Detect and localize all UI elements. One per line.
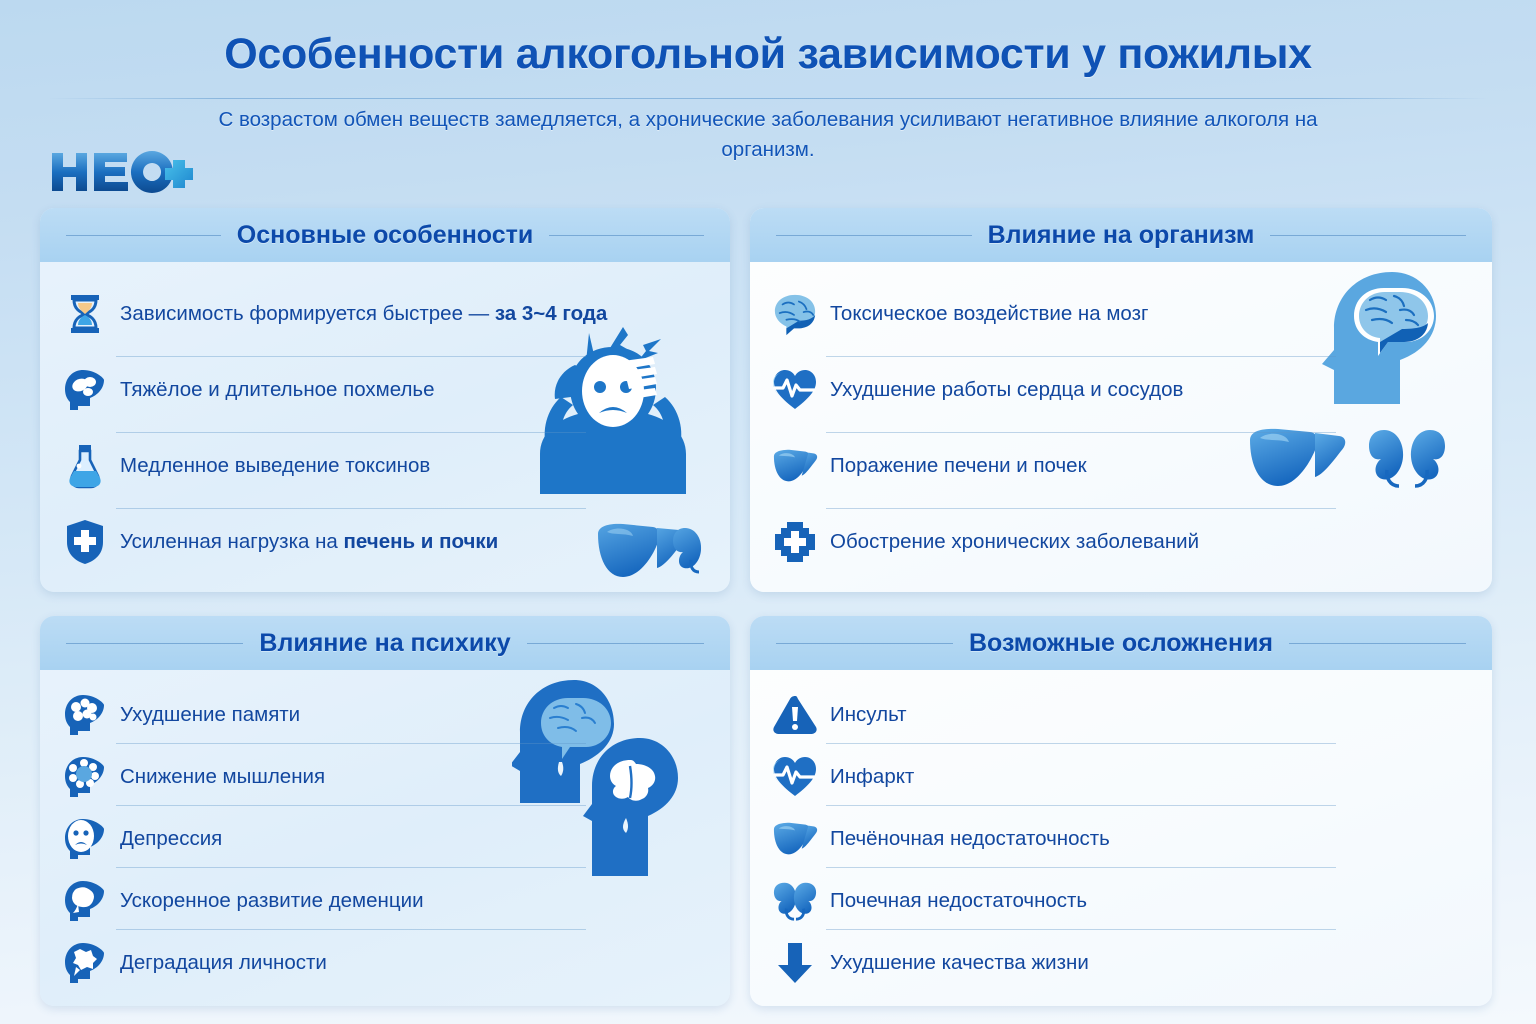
list-item-label: Медленное выведение токсинов — [120, 454, 430, 479]
liver-icon — [772, 816, 818, 862]
card-body: Инсульт Инфаркт — [750, 670, 1492, 1006]
flask-icon — [62, 443, 108, 489]
card-header: Влияние на психику — [40, 616, 730, 670]
warning-triangle-icon — [772, 692, 818, 738]
kidneys-icon — [772, 878, 818, 924]
list-item[interactable]: Почечная недостаточность — [772, 874, 1470, 928]
card-title: Влияние на организм — [988, 221, 1255, 250]
header-rule-left — [66, 643, 243, 644]
list-item[interactable]: Инфаркт — [772, 750, 1470, 804]
card-title: Влияние на психику — [259, 629, 510, 658]
card-vozmozhnye-oslozhneniya: Возможные осложнения Инсульт — [750, 616, 1492, 1006]
list-item-label: Инфаркт — [830, 765, 914, 790]
card-title: Основные особенности — [237, 221, 534, 250]
card-header: Влияние на организм — [750, 208, 1492, 262]
list-item-label: Депрессия — [120, 827, 222, 852]
list-item-label: Токсическое воздействие на мозг — [830, 302, 1148, 327]
head-sad-face-icon — [62, 816, 108, 862]
list-item-label: Инсульт — [830, 703, 907, 728]
list-item-label: Ухудшение памяти — [120, 703, 300, 728]
page-title: Особенности алкогольной зависимости у по… — [0, 0, 1536, 79]
medical-cross-icon — [772, 519, 818, 565]
card-header: Основные особенности — [40, 208, 730, 262]
list-item-label: Усиленная нагрузка на печень и почки — [120, 530, 498, 555]
list-item[interactable]: Обострение хронических заболеваний — [772, 515, 1470, 569]
heart-pulse-icon — [772, 367, 818, 413]
card-vliyanie-na-psihiku: Влияние на психику — [40, 616, 730, 1006]
head-gear-icon — [62, 754, 108, 800]
card-body: Ухудшение памяти Снижение — [40, 670, 730, 1006]
list-item-label: Деградация личности — [120, 951, 327, 976]
list-item[interactable]: Тяжёлое и длительное похмелье — [62, 363, 708, 417]
page-subtitle: С возрастом обмен веществ замедляется, а… — [188, 105, 1348, 164]
list-item[interactable]: Инсульт — [772, 688, 1470, 742]
list-item-label: Зависимость формируется быстрее — за 3~4… — [120, 302, 607, 327]
head-memory-icon — [62, 692, 108, 738]
head-pills-icon — [62, 367, 108, 413]
head-broken-icon — [62, 940, 108, 986]
list-item-label: Печёночная недостаточность — [830, 827, 1110, 852]
card-body: Токсическое воздействие на мозг Ухудшени… — [750, 262, 1492, 592]
list-item[interactable]: Ускоренное развитие деменции — [62, 874, 708, 928]
list-item[interactable]: Депрессия — [62, 812, 708, 866]
list-item[interactable]: Ухудшение работы сердца и сосудов — [772, 363, 1470, 417]
list-item[interactable]: Снижение мышления — [62, 750, 708, 804]
list-item-label: Ускоренное развитие деменции — [120, 889, 424, 914]
brand-logo — [48, 148, 196, 196]
list-item-label: Почечная недостаточность — [830, 889, 1087, 914]
header-rule-right — [1270, 235, 1466, 236]
list-item-label: Поражение печени и почек — [830, 454, 1087, 479]
card-vliyanie-na-organizm: Влияние на организм — [750, 208, 1492, 592]
list-item-label: Ухудшение качества жизни — [830, 951, 1089, 976]
card-body: Зависимость формируется быстрее — за 3~4… — [40, 262, 730, 592]
header-rule-left — [66, 235, 221, 236]
brain-icon — [772, 291, 818, 337]
list-item[interactable]: Ухудшение качества жизни — [772, 936, 1470, 990]
shield-cross-icon — [62, 519, 108, 565]
list-item[interactable]: Поражение печени и почек — [772, 439, 1470, 493]
neo-plus-logo-icon — [48, 149, 196, 195]
card-title: Возможные осложнения — [969, 629, 1273, 658]
title-divider — [48, 98, 1488, 99]
card-header: Возможные осложнения — [750, 616, 1492, 670]
header-rule-left — [776, 643, 953, 644]
head-fading-icon — [62, 878, 108, 924]
list-item[interactable]: Деградация личности — [62, 936, 708, 990]
list-item[interactable]: Медленное выведение токсинов — [62, 439, 708, 493]
list-item-label: Тяжёлое и длительное похмелье — [120, 378, 435, 403]
cards-grid: Основные особенности — [40, 208, 1492, 1006]
list-item-label: Снижение мышления — [120, 765, 325, 790]
hourglass-icon — [62, 291, 108, 337]
list-item-label: Обострение хронических заболеваний — [830, 530, 1199, 555]
heart-pulse-icon — [772, 754, 818, 800]
list-item[interactable]: Зависимость формируется быстрее — за 3~4… — [62, 287, 708, 341]
card-osnovnye-osobennosti: Основные особенности — [40, 208, 730, 592]
liver-icon — [772, 443, 818, 489]
list-item[interactable]: Печёночная недостаточность — [772, 812, 1470, 866]
list-item[interactable]: Усиленная нагрузка на печень и почки — [62, 515, 708, 569]
header-rule-right — [549, 235, 704, 236]
header-rule-left — [776, 235, 972, 236]
header-rule-right — [1289, 643, 1466, 644]
down-arrow-icon — [772, 940, 818, 986]
list-item-label: Ухудшение работы сердца и сосудов — [830, 378, 1183, 403]
list-item[interactable]: Токсическое воздействие на мозг — [772, 287, 1470, 341]
list-item[interactable]: Ухудшение памяти — [62, 688, 708, 742]
header-rule-right — [527, 643, 704, 644]
